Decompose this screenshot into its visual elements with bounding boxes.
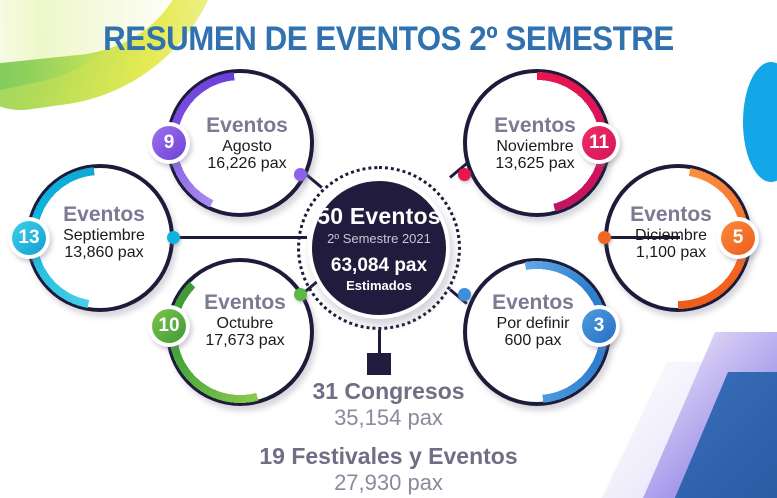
label-pax-septiembre: 13,860 pax [44, 244, 164, 262]
label-octubre: Eventos Octubre 17,673 pax [190, 291, 300, 350]
connector-dot-agosto [294, 168, 307, 181]
label-septiembre: Eventos Septiembre 13,860 pax [44, 203, 164, 262]
badge-value-por-definir: 3 [582, 309, 616, 343]
label-heading-por-definir: Eventos [474, 291, 592, 315]
label-pax-noviembre: 13,625 pax [476, 155, 594, 173]
connector-dot-diciembre [598, 231, 611, 244]
badge-value-octubre: 10 [152, 309, 186, 343]
center-note: Estimados [346, 278, 412, 293]
center-total-pax: 63,084 pax [331, 255, 427, 277]
page-title: RESUMEN DE EVENTOS 2º SEMESTRE [31, 20, 746, 59]
badge-value-agosto: 9 [152, 126, 186, 160]
badge-por-definir[interactable]: 3 [578, 305, 620, 347]
connector-septiembre [172, 236, 307, 239]
label-month-octubre: Octubre [190, 315, 300, 333]
badge-value-diciembre: 5 [721, 221, 755, 255]
decor-right-cyan-circle [743, 62, 777, 182]
label-agosto: Eventos Agosto 16,226 pax [192, 114, 302, 173]
label-heading-noviembre: Eventos [476, 114, 594, 138]
infographic-canvas: RESUMEN DE EVENTOS 2º SEMESTRE Eventos A… [0, 0, 777, 498]
label-month-septiembre: Septiembre [44, 227, 164, 245]
label-month-por-definir: Por definir [474, 315, 592, 333]
label-month-diciembre: Diciembre [612, 227, 730, 245]
label-noviembre: Eventos Noviembre 13,625 pax [476, 114, 594, 173]
label-heading-diciembre: Eventos [612, 203, 730, 227]
label-heading-agosto: Eventos [192, 114, 302, 138]
label-pax-agosto: 16,226 pax [192, 155, 302, 173]
badge-noviembre[interactable]: 11 [578, 122, 620, 164]
footer-congresos-pax: 35,154 pax [0, 405, 777, 431]
badge-diciembre[interactable]: 5 [717, 217, 759, 259]
badge-agosto[interactable]: 9 [148, 122, 190, 164]
center-total-events: 50 Eventos [317, 203, 440, 230]
footer-congresos-count: 31 Congresos [0, 378, 777, 405]
footer-row-congresos: 31 Congresos 35,154 pax [0, 378, 777, 431]
footer-festivales-count: 19 Festivales y Eventos [0, 443, 777, 470]
badge-septiembre[interactable]: 13 [8, 217, 50, 259]
label-month-noviembre: Noviembre [476, 138, 594, 156]
center-summary: 50 Eventos 2º Semestre 2021 63,084 pax E… [312, 181, 446, 315]
connector-dot-septiembre [167, 231, 180, 244]
connector-dot-por-definir [458, 288, 471, 301]
label-por-definir: Eventos Por definir 600 pax [474, 291, 592, 350]
label-pax-por-definir: 600 pax [474, 332, 592, 350]
label-diciembre: Eventos Diciembre 1,100 pax [612, 203, 730, 262]
footer-festivales-pax: 27,930 pax [0, 470, 777, 496]
center-period: 2º Semestre 2021 [327, 231, 431, 246]
label-heading-septiembre: Eventos [44, 203, 164, 227]
footer-summary: 31 Congresos 35,154 pax 19 Festivales y … [0, 378, 777, 498]
label-heading-octubre: Eventos [190, 291, 300, 315]
center-stem-square [367, 353, 391, 375]
label-month-agosto: Agosto [192, 138, 302, 156]
badge-value-septiembre: 13 [12, 221, 46, 255]
badge-value-noviembre: 11 [582, 126, 616, 160]
badge-octubre[interactable]: 10 [148, 305, 190, 347]
label-pax-octubre: 17,673 pax [190, 332, 300, 350]
connector-dot-octubre [294, 288, 307, 301]
footer-row-festivales: 19 Festivales y Eventos 27,930 pax [0, 443, 777, 496]
label-pax-diciembre: 1,100 pax [612, 244, 730, 262]
connector-dot-noviembre [458, 168, 471, 181]
